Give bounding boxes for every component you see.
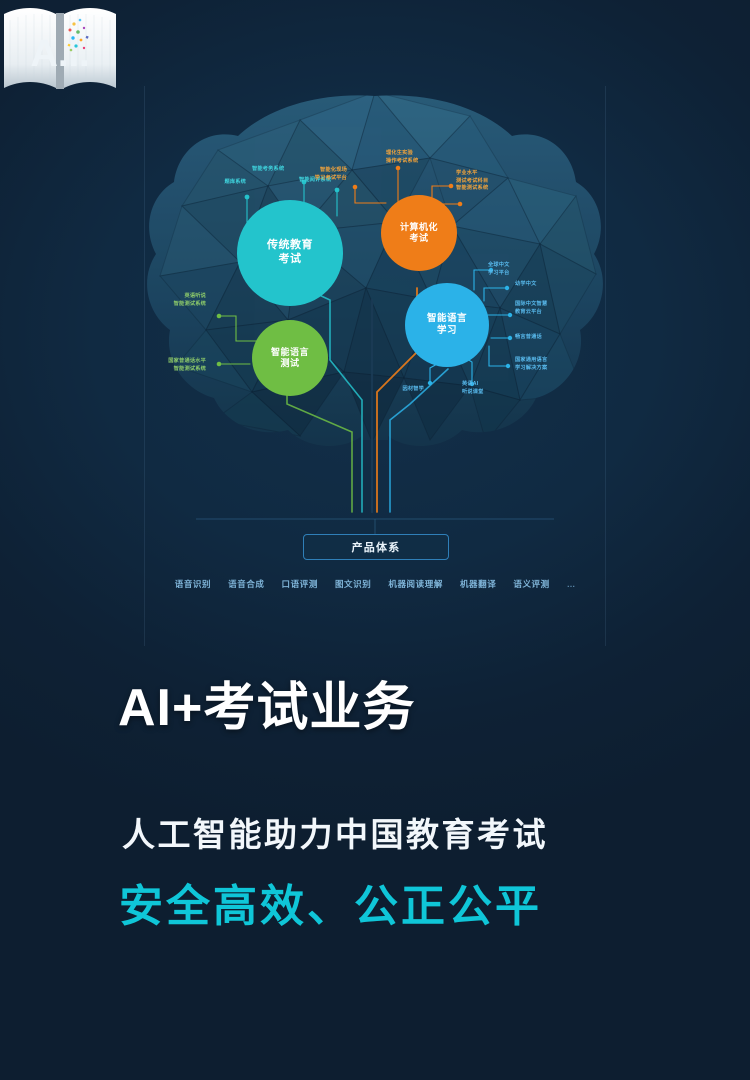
- node-computerized-exam-label: 计算机化考试: [400, 222, 438, 245]
- leaf-english-listening-speaking-test-system: 英语听说智能测试系统: [146, 293, 206, 308]
- leaf-smart-exam-admin-system: 智能考务系统: [252, 166, 284, 174]
- leaf-national-language-learning-solution: 国家通用语言学习解决方案: [515, 357, 547, 372]
- leaf-english-ai-listening-speaking-class: 英语AI听说课堂: [462, 381, 484, 396]
- page-title: AI+考试业务: [118, 682, 415, 734]
- node-traditional-education-exam[interactable]: 传统教育考试: [237, 200, 343, 306]
- leaf-mandarin-proficiency-test-system: 国家普通话水平智能测试系统: [142, 358, 206, 373]
- tag-oral-assessment[interactable]: 口语评测: [282, 578, 318, 590]
- subtitle-line-2: 安全高效、公正公平: [119, 885, 542, 929]
- poster-canvas: A.I. 传统教育考试 计算机化考试 智能语言测试 智能语言学习 题库: [0, 0, 750, 1080]
- leaf-global-chinese-learning-platform: 全球中文学习平台: [488, 262, 510, 277]
- node-intelligent-language-test-label: 智能语言测试: [271, 347, 309, 370]
- brain-diagram: A.I. 传统教育考试 计算机化考试 智能语言测试 智能语言学习 题库: [0, 0, 750, 640]
- tag-image-text-recognition[interactable]: 图文识别: [335, 578, 371, 590]
- leaf-adaptive-learning: 因材智学: [384, 386, 424, 394]
- node-computerized-exam[interactable]: 计算机化考试: [381, 195, 457, 271]
- node-traditional-education-exam-label: 传统教育考试: [267, 239, 313, 267]
- tag-speech-synthesis[interactable]: 语音合成: [228, 578, 264, 590]
- leaf-lab-operation-exam-system: 理化生实验操作考试系统: [386, 150, 418, 165]
- product-system-button-label: 产品体系: [352, 539, 401, 555]
- subtitle-line-1: 人工智能助力中国教育考试: [122, 818, 548, 851]
- tag-more-ellipsis: …: [567, 579, 576, 589]
- node-intelligent-language-learning[interactable]: 智能语言学习: [405, 283, 489, 367]
- node-intelligent-language-learning-label: 智能语言学习: [427, 313, 467, 337]
- tag-semantic-assessment[interactable]: 语义评测: [513, 578, 549, 590]
- capability-tag-row: 语音识别 语音合成 口语评测 图文识别 机器阅读理解 机器翻译 语义评测 …: [0, 578, 750, 590]
- tag-machine-translation[interactable]: 机器翻译: [460, 578, 496, 590]
- tag-machine-reading-comprehension[interactable]: 机器阅读理解: [388, 578, 443, 590]
- leaf-intl-chinese-smart-edu-cloud: 国际中文智慧教育云平台: [515, 301, 547, 316]
- leaf-question-bank-system: 题库系统: [200, 179, 246, 187]
- product-system-button[interactable]: 产品体系: [303, 534, 449, 560]
- open-book-graphic: A.I.: [0, 0, 120, 90]
- leaf-changyan-mandarin: 畅言普通话: [515, 334, 542, 342]
- leaf-kids-chinese: 幼学中文: [515, 281, 537, 289]
- node-intelligent-language-test[interactable]: 智能语言测试: [252, 320, 328, 396]
- leaf-academic-level-test-system: 学业水平测试考试科目智能测试系统: [456, 170, 488, 193]
- tag-speech-recognition[interactable]: 语音识别: [175, 578, 211, 590]
- leaf-smart-online-exam-platform: 智能化现场学习考试平台: [303, 167, 347, 182]
